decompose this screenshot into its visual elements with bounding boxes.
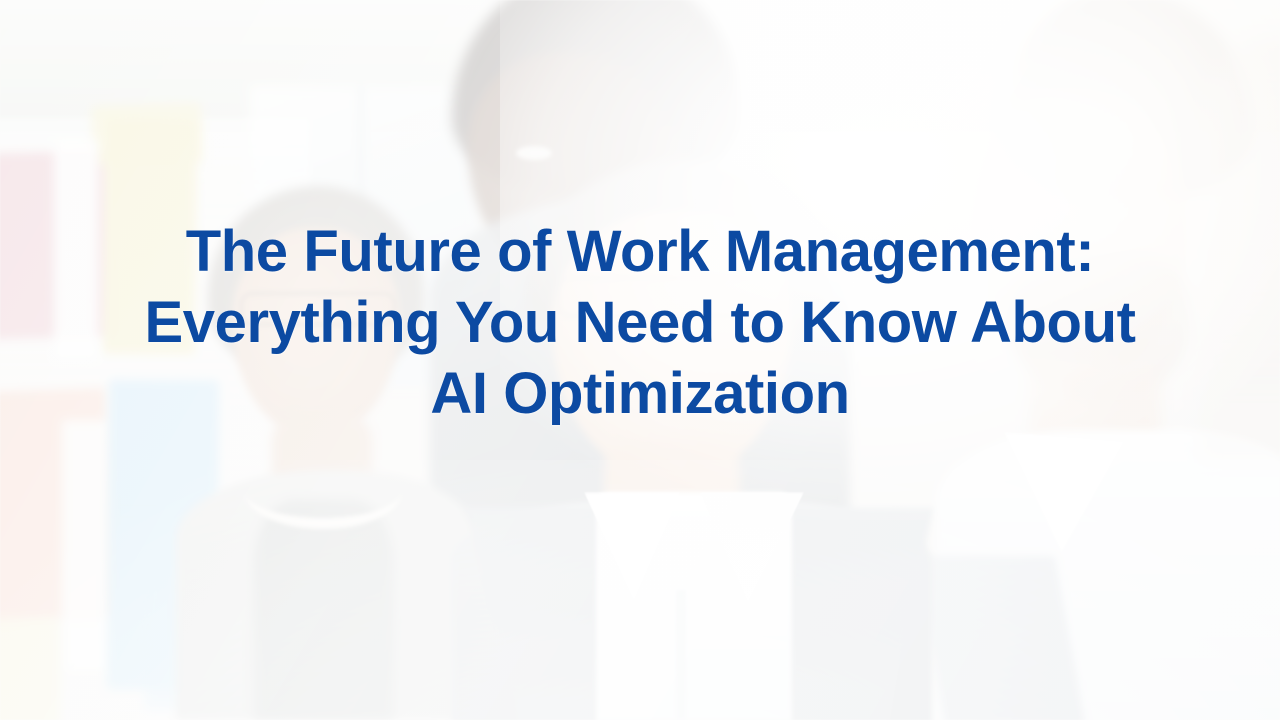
sticky-note-white-lower [62, 420, 110, 670]
person-right-jacket [915, 556, 1085, 720]
sticky-note-white-upper [54, 140, 98, 360]
person-left-pearl-necklace [244, 452, 402, 529]
hero-banner: The Future of Work Management: Everythin… [0, 0, 1280, 720]
title-container: The Future of Work Management: Everythin… [0, 216, 1280, 429]
person-center-shirt-placket [676, 590, 686, 720]
page-title: The Future of Work Management: Everythin… [135, 216, 1145, 429]
person-back-eye [516, 146, 552, 160]
person-far-right [1200, 40, 1280, 460]
sticky-note-yellow-lower [0, 618, 60, 720]
person-left-top [254, 500, 394, 720]
